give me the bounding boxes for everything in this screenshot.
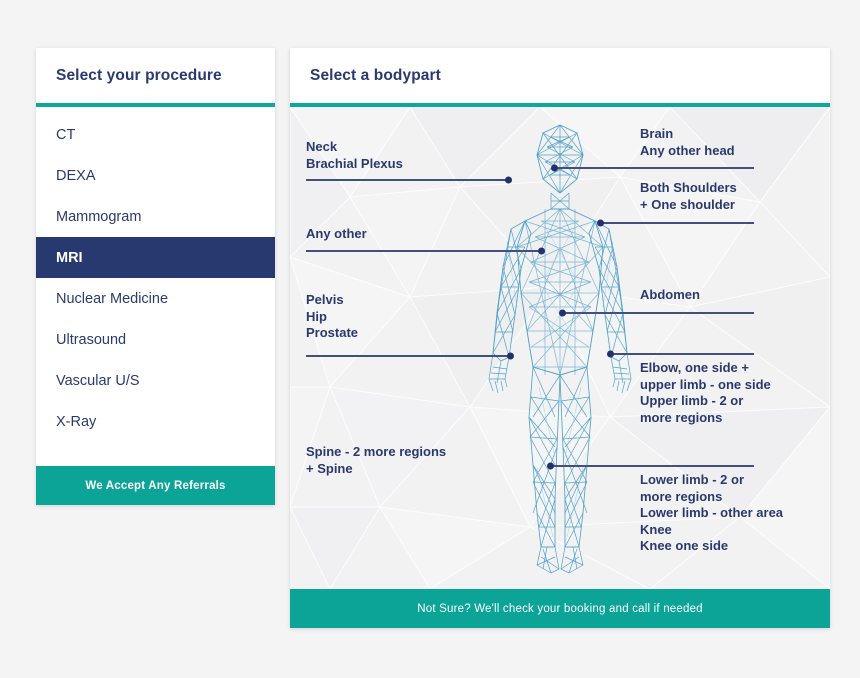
procedure-item-label: CT [56, 127, 75, 143]
leader-line-abdomen [562, 312, 754, 314]
callout-any-other[interactable]: Any other [306, 226, 367, 243]
callout-label-line: Brain [640, 126, 735, 143]
callout-label-line: Neck [306, 139, 403, 156]
callout-shoulders[interactable]: Both Shoulders + One shoulder [640, 180, 737, 213]
callout-label-line: Any other [306, 226, 367, 243]
procedure-item-xray[interactable]: X-Ray [36, 401, 275, 442]
leader-dot-icon [597, 219, 604, 226]
callout-label-line: upper limb - one side [640, 377, 771, 394]
procedure-item-mammogram[interactable]: Mammogram [36, 196, 275, 237]
procedure-item-label: X-Ray [56, 414, 96, 430]
leader-line-any-other [306, 250, 542, 252]
callout-label-line: Knee one side [640, 538, 783, 555]
leader-line-brain [554, 167, 754, 169]
callout-lower-limb[interactable]: Lower limb - 2 or more regions Lower lim… [640, 472, 783, 555]
callout-brain-head[interactable]: Brain Any other head [640, 126, 735, 159]
procedure-item-vascular-us[interactable]: Vascular U/S [36, 360, 275, 401]
procedure-item-label: Mammogram [56, 209, 141, 225]
procedure-item-label: Nuclear Medicine [56, 291, 168, 307]
leader-dot-icon [547, 462, 554, 469]
procedure-item-dexa[interactable]: DEXA [36, 155, 275, 196]
callout-neck-brachial-plexus[interactable]: Neck Brachial Plexus [306, 139, 403, 172]
leader-dot-icon [607, 350, 614, 357]
procedure-item-label: Ultrasound [56, 332, 126, 348]
callout-label-line: + Spine [306, 461, 446, 478]
callout-label-line: Upper limb - 2 or [640, 393, 771, 410]
wireframe-body-figure[interactable] [455, 117, 665, 587]
procedure-item-ct[interactable]: CT [36, 114, 275, 155]
body-diagram: Neck Brachial Plexus Any other Pelvis Hi… [290, 107, 830, 589]
procedure-panel-title: Select your procedure [56, 67, 222, 85]
callout-label-line: Elbow, one side + [640, 360, 771, 377]
procedure-item-nuclear-medicine[interactable]: Nuclear Medicine [36, 278, 275, 319]
procedure-panel: Select your procedure CT DEXA Mammogram … [36, 48, 275, 505]
leader-dot-icon [559, 309, 566, 316]
callout-label-line: Brachial Plexus [306, 156, 403, 173]
procedure-item-mri[interactable]: MRI [36, 237, 275, 278]
callout-label-line: Both Shoulders [640, 180, 737, 197]
leader-line-lower-limb [550, 465, 754, 467]
callout-label-line: Lower limb - other area [640, 505, 783, 522]
procedure-item-label: DEXA [56, 168, 96, 184]
callout-label-line: Prostate [306, 325, 358, 342]
callout-label-line: Spine - 2 more regions [306, 444, 446, 461]
callout-label-line: Knee [640, 522, 783, 539]
leader-line-upper-limb [610, 353, 754, 355]
callout-pelvis-hip-prostate[interactable]: Pelvis Hip Prostate [306, 292, 358, 342]
procedure-panel-header: Select your procedure [36, 48, 275, 103]
procedure-list: CT DEXA Mammogram MRI Nuclear Medicine U… [36, 107, 275, 442]
callout-label-line: Any other head [640, 143, 735, 160]
callout-spine[interactable]: Spine - 2 more regions + Spine [306, 444, 446, 477]
callout-label-line: + One shoulder [640, 197, 737, 214]
bodypart-panel: Select a bodypart [290, 48, 830, 628]
callout-label-line: Lower limb - 2 or [640, 472, 783, 489]
callout-abdomen[interactable]: Abdomen [640, 287, 700, 304]
leader-dot-icon [551, 164, 558, 171]
not-sure-banner-button[interactable]: Not Sure? We'll check your booking and c… [290, 589, 830, 628]
callout-label-line: Abdomen [640, 287, 700, 304]
leader-line-pelvis [306, 355, 511, 357]
leader-dot-icon [507, 352, 514, 359]
bodypart-panel-header: Select a bodypart [290, 48, 830, 103]
leader-dot-icon [505, 176, 512, 183]
leader-line-neck [306, 179, 509, 181]
callout-label-line: Hip [306, 309, 358, 326]
callout-label-line: more regions [640, 489, 783, 506]
leader-line-shoulders [600, 222, 754, 224]
procedure-item-label: Vascular U/S [56, 373, 140, 389]
procedure-item-label: MRI [56, 250, 83, 266]
callout-label-line: more regions [640, 410, 771, 427]
leader-dot-icon [538, 247, 545, 254]
callout-label-line: Pelvis [306, 292, 358, 309]
referrals-banner-button[interactable]: We Accept Any Referrals [36, 466, 275, 505]
bodypart-panel-title: Select a bodypart [310, 67, 441, 85]
app-stage: Select your procedure CT DEXA Mammogram … [0, 0, 860, 678]
procedure-item-ultrasound[interactable]: Ultrasound [36, 319, 275, 360]
callout-upper-limb[interactable]: Elbow, one side + upper limb - one side … [640, 360, 771, 426]
